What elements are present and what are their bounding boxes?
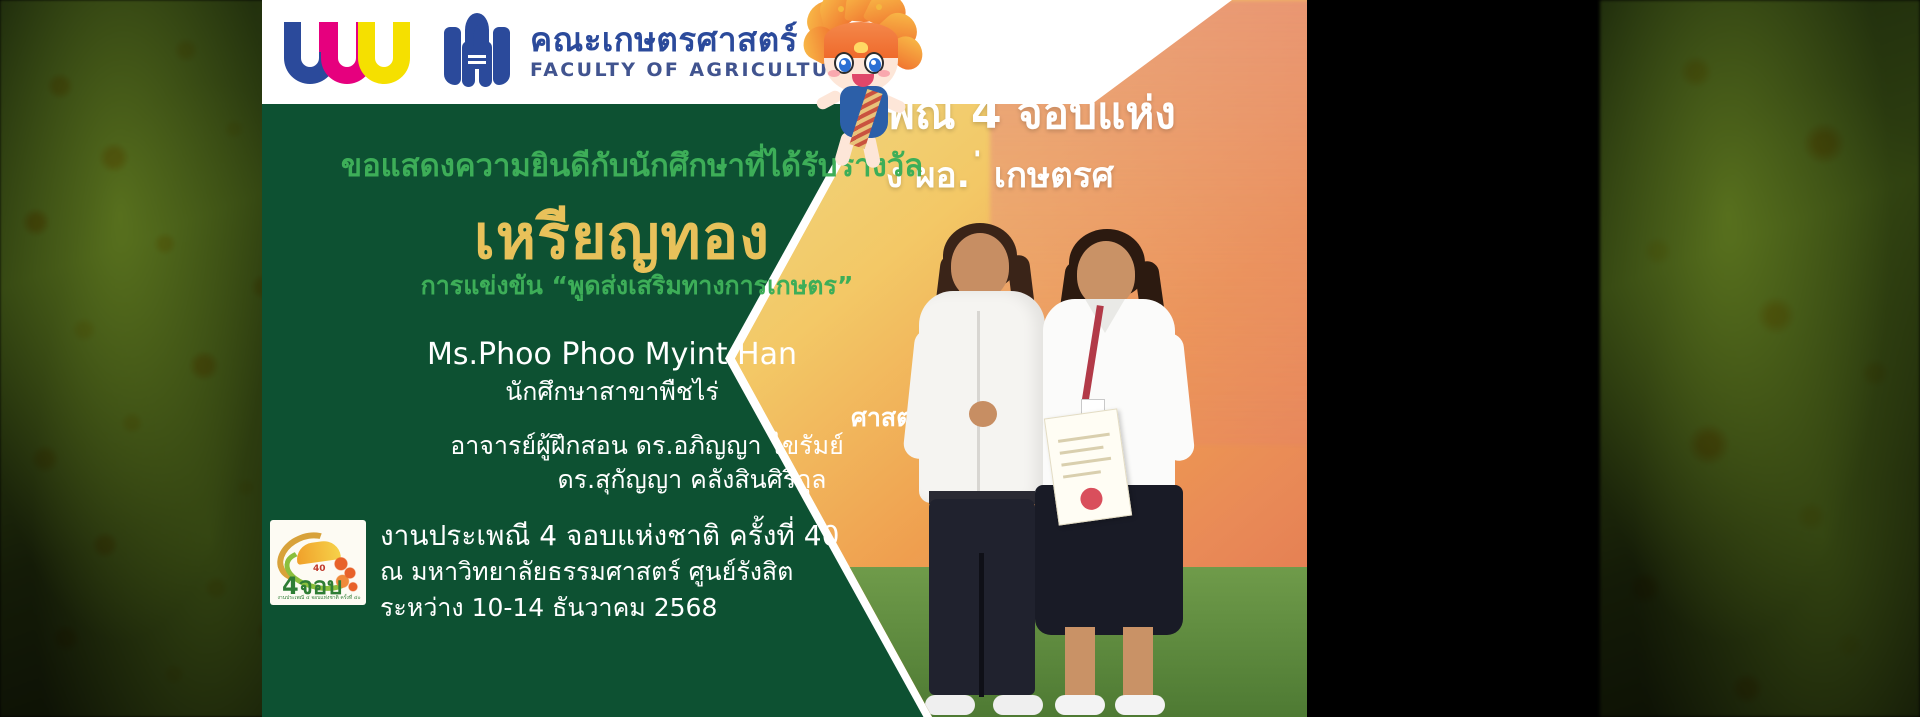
event-mascot-character [802, 0, 922, 176]
event-dates: ระหว่าง 10-14 ธันวาคม 2568 [380, 588, 717, 628]
header-band: คณะเกษตรศาสตร์ FACULTY OF AGRICULTURE [262, 0, 1055, 104]
certificate-text-line [1060, 446, 1104, 455]
mascot-hair-bead [876, 4, 882, 10]
student-leg-right [1123, 627, 1153, 697]
student-major: นักศึกษาสาขาพืชไร่ [262, 372, 962, 412]
header-logo-row: คณะเกษตรศาสตร์ FACULTY OF AGRICULTURE [284, 8, 862, 94]
mascot-forehead-gem [854, 42, 868, 53]
4-job-event-logo: 4จอบ 40 งานประเพณี ๔ จอบแห่งชาติ ครั้งที… [270, 520, 366, 605]
event-venue: ณ มหาวิทยาลัยธรรมศาสตร์ ศูนย์รังสิต [380, 552, 793, 592]
competition-name: การแข่งขัน “พูดส่งเสริมทางการเกษตร” [262, 266, 1012, 306]
poster-text-column: ขอแสดงความยินดีกับนักศึกษาที่ได้รับรางวั… [262, 104, 1022, 717]
mascot-hair-bead [838, 6, 844, 12]
advisor-line-2: ดร.สุกัญญา คลังสินศิริกุล [262, 460, 1122, 500]
mascot-cheek-right [878, 70, 890, 77]
student-name: Ms.Phoo Phoo Myint Han [262, 337, 962, 372]
seal-ring [468, 61, 486, 64]
seal-petal [444, 27, 461, 85]
seal-petal [493, 27, 510, 85]
seal-ring [468, 55, 486, 58]
poster-stage: พณี 4 จอบแห่ง ง ผอ. ่ เกษตรศ วันที่ 2568… [0, 0, 1920, 717]
gold-bokeh-backdrop-left [0, 0, 300, 717]
event-logo-edition-badge: 40 [313, 564, 326, 574]
event-info-block: 4จอบ 40 งานประเพณี ๔ จอบแห่งชาติ ครั้งที… [262, 508, 1022, 717]
student-shoe-right [1115, 695, 1165, 715]
mascot-arm-left [815, 89, 844, 112]
event-logo-caption: งานประเพณี ๔ จอบแห่งชาติ ครั้งที่ ๔๐ [276, 595, 362, 603]
mascot-cheek-left [828, 70, 840, 77]
ubu-logo-letter-u-yellow [358, 22, 410, 84]
faculty-seal-icon [440, 11, 514, 91]
gold-bokeh-backdrop-right [1600, 0, 1920, 717]
certificate-text-line [1058, 433, 1110, 443]
congratulations-poster-card: พณี 4 จอบแห่ง ง ผอ. ่ เกษตรศ วันที่ 2568… [262, 0, 1307, 717]
student-leg-left [1065, 627, 1095, 697]
student-head [1077, 241, 1135, 307]
ubu-logo [284, 8, 424, 94]
student-shoe-left [1055, 695, 1105, 715]
mascot-pupil [839, 58, 851, 72]
